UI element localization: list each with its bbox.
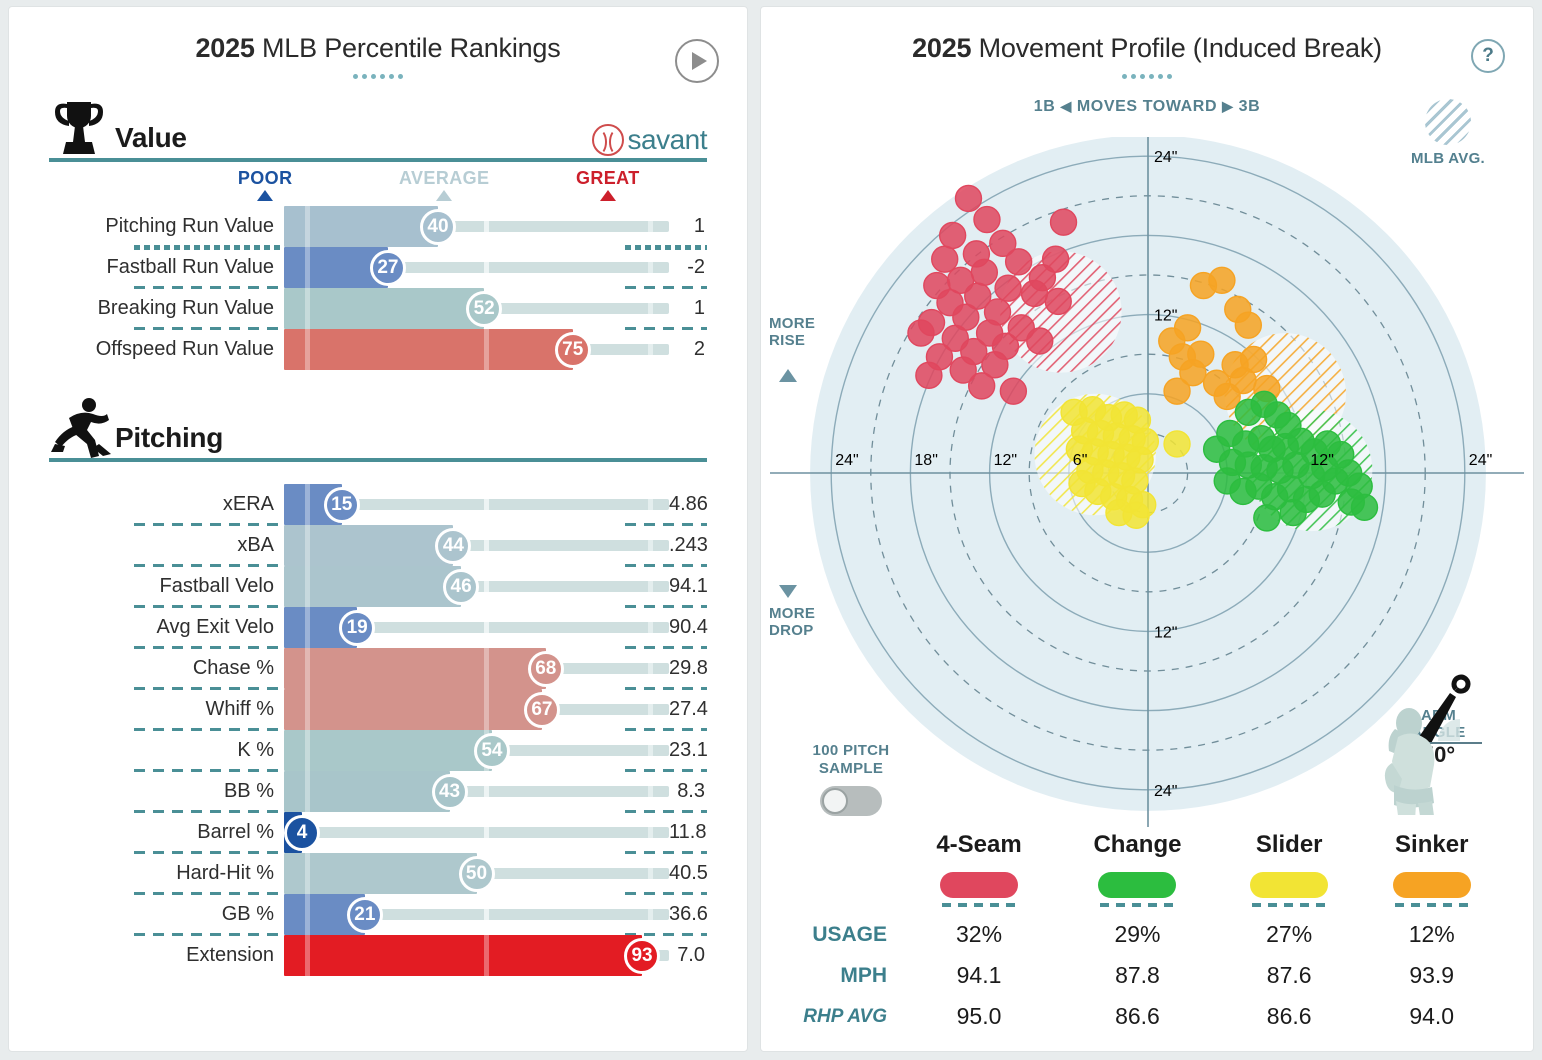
pitch-row-header-usage: USAGE [781,914,901,955]
pitch-point-slider [1123,502,1149,528]
savant-player-page: 2025 MLB Percentile Rankings Valuesavant… [0,0,1542,1060]
svg-text:18": 18" [914,452,937,469]
percentile-row-label: Hard-Hit % [49,862,284,885]
pitch-cell-rhp_avg-4-seam: 95.0 [901,996,1057,1037]
percentile-stat-value: 27.4 [669,698,710,721]
percentile-stat-value: 40.5 [669,862,710,885]
percentile-fill [284,206,438,247]
more-rise-arrow-icon [779,369,797,382]
percentile-row-label: Avg Exit Velo [49,616,284,639]
percentile-row-label: Whiff % [49,698,284,721]
title-dots-decoration [9,66,747,84]
percentile-bubble: 93 [624,938,660,974]
section-header: Valuesavant [49,104,707,162]
pitch-cell-rhp_avg-sinker: 94.0 [1360,996,1503,1037]
percentile-track-wrap: 67 [284,689,669,730]
pitch-point-sinker [1235,312,1261,338]
percentile-track-wrap: 27 [284,247,669,288]
percentile-track-wrap: 4 [284,812,669,853]
svg-text:12": 12" [994,452,1017,469]
pitch-point-change [1280,500,1306,526]
svg-text:12": 12" [1154,624,1177,641]
percentile-bubble: 44 [435,528,471,564]
trophy-icon [49,96,115,158]
percentile-track-wrap: 75 [284,329,669,370]
pitch-table-header-row: 4-SeamChangeSliderSinker [781,831,1503,865]
pitch-col-header-change: Change [1057,831,1218,865]
right-panel-title: 2025 Movement Profile (Induced Break) [761,7,1533,64]
pitcher-icon [49,396,115,458]
percentile-row-label: xERA [49,493,284,516]
baseball-icon [592,124,624,156]
percentile-track-wrap: 93 [284,935,669,976]
left-arrow-icon: ◀ [1060,98,1071,114]
pitch-point-4-seam [916,362,942,388]
percentile-bubble: 46 [443,569,479,605]
pitch-color-cell-sinker [1360,865,1503,914]
pitch-point-sinker [1209,267,1235,293]
scale-label-great: GREAT [576,168,640,189]
pitch-col-header-4-seam: 4-Seam [901,831,1057,865]
percentile-stat-value: 1 [669,215,707,238]
percentile-row[interactable]: K %5423.1 [49,730,707,771]
percentile-rankings-panel: 2025 MLB Percentile Rankings Valuesavant… [8,6,748,1052]
percentile-fill [284,288,484,329]
percentile-row[interactable]: Extension937.0 [49,935,707,976]
percentile-fill [284,730,492,771]
pitch-point-4-seam [1029,265,1055,291]
percentile-bubble: 68 [528,651,564,687]
pitch-cell-usage-slider: 27% [1218,914,1361,955]
play-triangle [692,52,707,70]
scale-label-poor: POOR [238,168,293,189]
percentile-row-label: Pitching Run Value [49,215,284,238]
percentile-bubble: 27 [370,250,406,286]
pitch-point-4-seam [995,275,1021,301]
pitch-point-change [1351,494,1377,520]
pitch-point-4-seam [974,207,1000,233]
pitch-col-header-sinker: Sinker [1360,831,1503,865]
pitch-col-header-slider: Slider [1218,831,1361,865]
percentile-row[interactable]: xERA154.86 [49,484,707,525]
movement-profile-panel: 2025 Movement Profile (Induced Break) ? … [760,6,1534,1052]
pitch-point-4-seam [1000,378,1026,404]
percentile-fill [284,329,573,370]
percentile-stat-value: 23.1 [669,739,710,762]
scale-label-average: AVERAGE [399,168,489,189]
pitch-point-sinker [1164,378,1190,404]
percentile-stat-value: .243 [669,534,710,557]
pitch-table-row: USAGE32%29%27%12% [781,914,1503,955]
percentile-row-label: Extension [49,944,284,967]
percentile-track-wrap: 15 [284,484,669,525]
left-panel-title: 2025 MLB Percentile Rankings [9,7,747,64]
pitch-table-corner [781,831,901,865]
percentile-fill [284,525,453,566]
pitch-cell-mph-change: 87.8 [1057,955,1218,996]
percentile-row[interactable]: Offspeed Run Value752 [49,329,707,370]
pitch-sample-label: 100 PITCHSAMPLE [781,742,921,778]
pitch-point-change [1254,505,1280,531]
svg-text:24": 24" [1154,149,1177,166]
pitch-dash-divider [1252,903,1326,907]
percentile-fill [284,689,542,730]
percentile-bubble: 21 [347,897,383,933]
pitch-color-pill [1393,872,1471,898]
percentile-track [284,827,669,838]
percentile-stat-value: 11.8 [669,821,708,844]
svg-text:24": 24" [835,452,858,469]
percentile-track-wrap: 68 [284,648,669,689]
percentile-row-label: Fastball Run Value [49,256,284,279]
pitch-cell-usage-sinker: 12% [1360,914,1503,955]
pitch-point-4-seam [932,246,958,272]
percentile-fill [284,648,546,689]
percentile-track-wrap: 40 [284,206,669,247]
percentile-stat-value: 36.6 [669,903,710,926]
section-pitching: PitchingxERA154.86xBA44.243Fastball Velo… [49,404,707,976]
moves-toward-text: MOVES TOWARD [1077,98,1217,115]
pitch-dash-divider [942,903,1016,907]
pitch-sample-toggle-group[interactable]: 100 PITCHSAMPLE [781,742,921,816]
pitch-dash-divider [1395,903,1469,907]
percentile-row-list: Pitching Run Value401Fastball Run Value2… [49,206,707,370]
percentile-row[interactable]: Barrel %411.8 [49,812,707,853]
pitch-cell-rhp_avg-change: 86.6 [1057,996,1218,1037]
percentile-row-label: Fastball Velo [49,575,284,598]
moves-toward-1b: 1B [1034,98,1056,115]
percentile-track-wrap: 19 [284,607,669,648]
percentile-bubble: 50 [459,856,495,892]
percentile-row[interactable]: Fastball Velo4694.1 [49,566,707,607]
pitch-cell-mph-sinker: 93.9 [1360,955,1503,996]
arm-angle-group: ARMANGLE 50° [1356,707,1521,768]
percentile-bubble: 54 [474,733,510,769]
percentile-row[interactable]: Chase %6829.8 [49,648,707,689]
right-title-dots-decoration [761,66,1533,84]
pitch-table-row: MPH94.187.887.693.9 [781,955,1503,996]
pitch-cell-mph-slider: 87.6 [1218,955,1361,996]
scale-marker-average [436,190,452,201]
percentile-row[interactable]: Fastball Run Value27-2 [49,247,707,288]
percentile-fill [284,771,450,812]
question-mark-icon[interactable]: ? [1471,39,1505,73]
percentile-row-label: xBA [49,534,284,557]
pitch-row-header-rhp_avg: RHP AVG [781,996,901,1037]
percentile-row[interactable]: Breaking Run Value521 [49,288,707,329]
percentile-row-label: GB % [49,903,284,926]
percentile-stat-value: 29.8 [669,657,710,680]
percentile-row[interactable]: Avg Exit Velo1990.4 [49,607,707,648]
pitch-color-pill [940,872,1018,898]
percentile-fill [284,566,461,607]
percentile-bubble: 15 [324,487,360,523]
pitch-point-slider [1164,431,1190,457]
percentile-row-label: Breaking Run Value [49,297,284,320]
pitch-point-change [1309,481,1335,507]
left-title-year: 2025 [195,33,254,63]
right-title-year: 2025 [912,33,971,63]
pitch-color-cell-change [1057,865,1218,914]
pitch-point-sinker [1214,383,1240,409]
scale-marker-great [600,190,616,201]
section-header: Pitching [49,404,707,462]
pitch-point-4-seam [1051,209,1077,235]
pitch-summary-table: 4-SeamChangeSliderSinker USAGE32%29%27%1… [781,831,1503,1037]
pitcher-arm-angle-icon [1364,645,1524,815]
percentile-scale-legend: POORAVERAGEGREAT [49,168,707,206]
pitch-table-row: RHP AVG95.086.686.694.0 [781,996,1503,1037]
svg-text:6": 6" [1073,452,1088,469]
pitch-point-slider [1069,471,1095,497]
pitch-point-4-seam [969,373,995,399]
pitch-cell-usage-change: 29% [1057,914,1218,955]
more-drop-label: MOREDROP [769,605,815,640]
pitch-color-cell-slider [1218,865,1361,914]
svg-text:12": 12" [1310,452,1333,469]
pitch-color-pill [1098,872,1176,898]
percentile-row[interactable]: Hard-Hit %5040.5 [49,853,707,894]
pitch-point-4-seam [908,320,934,346]
pitch-point-4-seam [971,259,997,285]
percentile-track-wrap: 46 [284,566,669,607]
svg-text:24": 24" [1154,783,1177,800]
percentile-stat-value: 2 [669,338,707,361]
percentile-stat-value: 4.86 [669,493,710,516]
percentile-row-list: xERA154.86xBA44.243Fastball Velo4694.1Av… [49,484,707,976]
percentile-bubble: 19 [339,610,375,646]
moves-toward-3b: 3B [1239,98,1261,115]
percentile-row-label: BB % [49,780,284,803]
pitch-row-header-mph: MPH [781,955,901,996]
svg-text:12": 12" [1154,308,1177,325]
percentile-fill [284,935,642,976]
percentile-bubble: 67 [524,692,560,728]
percentile-track-wrap: 50 [284,853,669,894]
percentile-bubble: 4 [284,815,320,851]
percentile-row[interactable]: xBA44.243 [49,525,707,566]
pitch-point-4-seam [1006,249,1032,275]
percentile-track-wrap: 43 [284,771,669,812]
pitch-cell-usage-4-seam: 32% [901,914,1057,955]
pitch-point-4-seam [1027,328,1053,354]
section-title: Value [115,122,187,158]
percentile-track-wrap: 52 [284,288,669,329]
percentile-row-label: Offspeed Run Value [49,338,284,361]
percentile-stat-value: 8.3 [669,780,707,803]
pitch-color-row [781,865,1503,914]
percentile-stat-value: -2 [669,256,707,279]
savant-logo: savant [592,124,708,156]
percentile-row[interactable]: Whiff %6727.4 [49,689,707,730]
pitch-sample-toggle[interactable] [820,786,882,816]
percentile-row[interactable]: BB %438.3 [49,771,707,812]
pitch-point-4-seam [955,185,981,211]
percentile-bubble: 75 [555,332,591,368]
svg-text:24": 24" [1469,452,1492,469]
pitch-color-cell-4-seam [901,865,1057,914]
left-title-text: MLB Percentile Rankings [255,33,561,63]
percentile-row-label: Barrel % [49,821,284,844]
percentile-row[interactable]: GB %2136.6 [49,894,707,935]
pitch-point-4-seam [940,222,966,248]
section-value: ValuesavantPOORAVERAGEGREATPitching Run … [49,104,707,370]
percentile-fill [284,853,477,894]
more-rise-label: MORERISE [769,315,815,350]
percentile-stat-value: 7.0 [669,944,707,967]
spacer [49,462,707,484]
toggle-knob [822,788,848,814]
more-drop-arrow-icon [779,585,797,598]
pitch-color-pill [1250,872,1328,898]
percentile-bubble: 52 [466,291,502,327]
percentile-bubble: 43 [432,774,468,810]
percentile-stat-value: 94.1 [669,575,710,598]
savant-wordmark: savant [628,124,708,156]
play-icon[interactable] [675,39,719,83]
right-title-text: Movement Profile (Induced Break) [971,33,1382,63]
pitch-cell-mph-4-seam: 94.1 [901,955,1057,996]
percentile-row-label: K % [49,739,284,762]
percentile-track-wrap: 44 [284,525,669,566]
percentile-row-label: Chase % [49,657,284,680]
percentile-track-wrap: 54 [284,730,669,771]
section-title: Pitching [115,422,223,458]
pitch-cell-rhp_avg-slider: 86.6 [1218,996,1361,1037]
right-arrow-icon: ▶ [1222,98,1233,114]
percentile-bubble: 40 [420,209,456,245]
percentile-stat-value: 90.4 [669,616,710,639]
scale-marker-poor [257,190,273,201]
percentile-row[interactable]: Pitching Run Value401 [49,206,707,247]
pitch-point-4-seam [1045,288,1071,314]
pitch-dash-divider [1100,903,1174,907]
percentile-track-wrap: 21 [284,894,669,935]
percentile-stat-value: 1 [669,297,707,320]
